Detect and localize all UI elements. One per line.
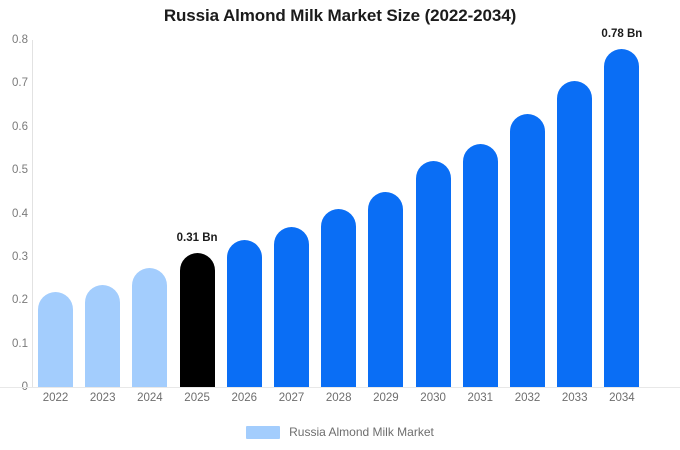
bar-slot	[368, 40, 403, 387]
bar-slot	[557, 40, 592, 387]
chart-legend: Russia Almond Milk Market	[0, 425, 680, 439]
bar-2029[interactable]	[368, 192, 403, 387]
y-axis-tick: 0.6	[2, 121, 28, 133]
bar-2026[interactable]	[227, 240, 262, 387]
bar-2024[interactable]	[132, 268, 167, 387]
bar-2027[interactable]	[274, 227, 309, 387]
bar-2028[interactable]	[321, 209, 356, 387]
x-axis-tick-2022: 2022	[31, 392, 81, 404]
bar-value-label-2025: 0.31 Bn	[177, 232, 218, 244]
bar-slot	[85, 40, 120, 387]
legend-swatch-russia-almond-milk-market	[246, 426, 280, 439]
legend-label-russia-almond-milk-market: Russia Almond Milk Market	[289, 425, 434, 439]
bar-2032[interactable]	[510, 114, 545, 387]
x-axis-tick-2032: 2032	[503, 392, 553, 404]
bar-slot	[321, 40, 356, 387]
bar-slot	[38, 40, 73, 387]
y-axis-tick: 0.4	[2, 208, 28, 220]
bar-chart: Russia Almond Milk Market Size (2022-203…	[0, 0, 680, 450]
x-axis-tick-2034: 2034	[597, 392, 647, 404]
x-axis-tick-2025: 2025	[172, 392, 222, 404]
y-axis-tick: 0.2	[2, 294, 28, 306]
y-axis-tick: 0.7	[2, 77, 28, 89]
y-axis-tick: 0.5	[2, 164, 28, 176]
plot-area	[32, 40, 680, 387]
bar-2023[interactable]	[85, 285, 120, 387]
x-axis-tick-2024: 2024	[125, 392, 175, 404]
bar-value-label-2034: 0.78 Bn	[601, 28, 642, 40]
chart-title: Russia Almond Milk Market Size (2022-203…	[0, 6, 680, 26]
bar-slot	[132, 40, 167, 387]
bar-slot	[604, 40, 639, 387]
x-axis-tick-2027: 2027	[267, 392, 317, 404]
x-axis-tick-2033: 2033	[550, 392, 600, 404]
bar-2025[interactable]	[180, 253, 215, 387]
bar-slot	[463, 40, 498, 387]
x-axis-tick-2026: 2026	[219, 392, 269, 404]
x-axis-tick-2028: 2028	[314, 392, 364, 404]
x-axis-tick-2023: 2023	[78, 392, 128, 404]
y-axis-tick: 0.3	[2, 251, 28, 263]
bar-slot	[227, 40, 262, 387]
y-axis-tick: 0.8	[2, 34, 28, 46]
x-axis-tick-2030: 2030	[408, 392, 458, 404]
x-axis-tick-2031: 2031	[455, 392, 505, 404]
bar-2022[interactable]	[38, 292, 73, 387]
bar-2031[interactable]	[463, 144, 498, 387]
y-axis-tick: 0.1	[2, 338, 28, 350]
y-axis: 0.80.70.60.50.40.30.20.10	[0, 40, 28, 387]
bar-2034[interactable]	[604, 49, 639, 387]
bar-slot	[416, 40, 451, 387]
x-axis-line	[0, 387, 680, 388]
bar-slot	[180, 40, 215, 387]
x-axis-tick-2029: 2029	[361, 392, 411, 404]
bar-slot	[510, 40, 545, 387]
bar-2030[interactable]	[416, 161, 451, 387]
bar-slot	[274, 40, 309, 387]
bar-2033[interactable]	[557, 81, 592, 387]
